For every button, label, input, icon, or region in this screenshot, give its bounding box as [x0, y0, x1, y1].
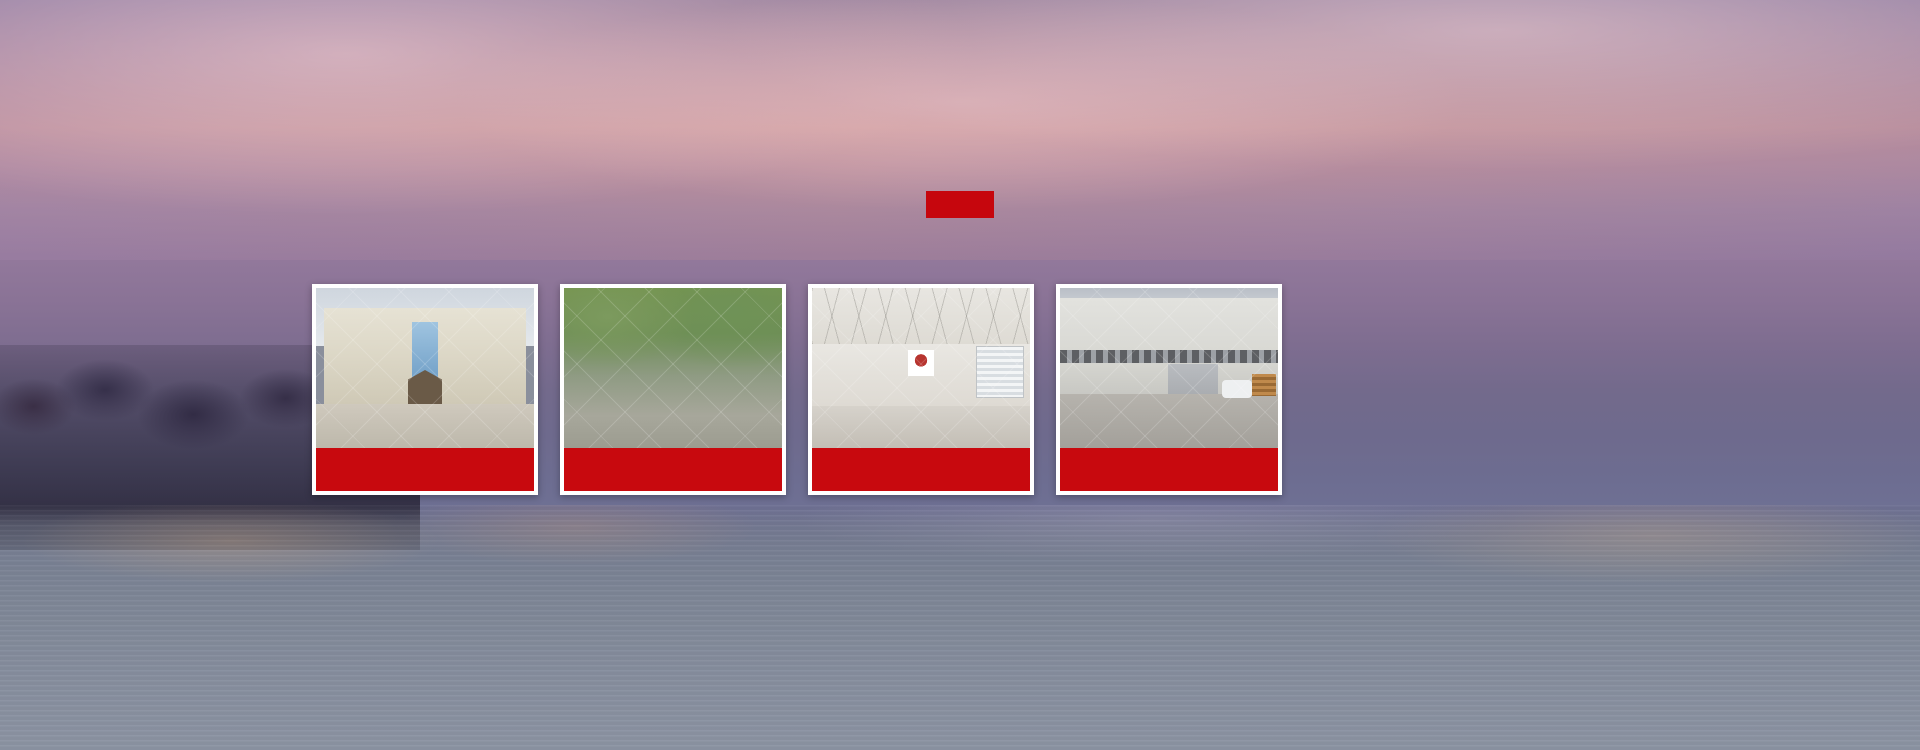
photo-plaza-ground [316, 404, 534, 448]
river-water [0, 505, 1920, 750]
photo-factory-window-strip [1060, 350, 1278, 363]
feature-card[interactable] [808, 284, 1034, 495]
card-photo-office-meeting [812, 288, 1030, 448]
feature-card[interactable] [312, 284, 538, 495]
card-caption [316, 448, 534, 491]
photo-wall-logo [908, 350, 934, 376]
photo-factory-door [1168, 364, 1218, 396]
photo-lumber-stack [1252, 374, 1276, 396]
hero-banner [0, 0, 1920, 750]
card-photo-headquarters [316, 288, 534, 448]
card-photo-plant-aerial [564, 288, 782, 448]
feature-card-list [312, 284, 1557, 495]
feature-card[interactable] [1056, 284, 1282, 495]
subtitle-banner [926, 191, 994, 218]
photo-landscape [564, 288, 782, 448]
card-caption [564, 448, 782, 491]
photo-ground [1060, 394, 1278, 448]
photo-ceiling-grid [812, 288, 1030, 344]
photo-window-blinds [976, 346, 1024, 398]
feature-card[interactable] [560, 284, 786, 495]
photo-white-vehicle [1222, 380, 1252, 398]
card-photo-factory-workers [1060, 288, 1278, 448]
photo-floor [812, 406, 1030, 448]
subtitle-bar-wrapper [0, 191, 1920, 223]
card-caption [1060, 448, 1278, 491]
water-ripples [0, 505, 1920, 750]
card-caption [812, 448, 1030, 491]
